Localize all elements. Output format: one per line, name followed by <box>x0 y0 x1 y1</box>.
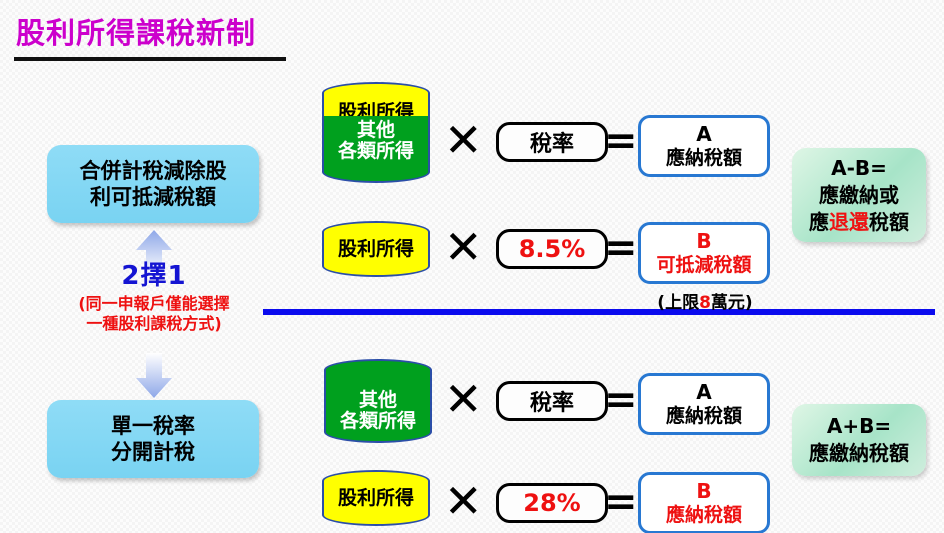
result-box-a-2[interactable]: A 應納稅額 <box>638 373 770 435</box>
cylinder-segment-other: 其他 各類所得 <box>324 370 432 432</box>
choice-a-line2: 利可抵減稅額 <box>90 185 216 209</box>
choice-a-line1: 合併計稅減除股 <box>80 159 227 183</box>
cylinder-other-income: 其他 各類所得 <box>324 359 432 443</box>
pick-note-line2: 一種股利課稅方式) <box>86 314 221 333</box>
choice-box-combined-label: 合併計稅減除股 利可抵減稅額 <box>80 158 227 211</box>
equals-operator-3: = <box>604 380 638 420</box>
cylinder-dividend-plus-other-income: 股利所得 其他 各類所得 <box>322 82 430 183</box>
rate-pill-label: 8.5% <box>519 235 586 263</box>
result-sublabel: 應納稅額 <box>666 405 742 427</box>
choice-box-separate-label: 單一稅率 分開計稅 <box>111 413 195 466</box>
cylinder-dividend-label: 股利所得 <box>324 239 428 260</box>
cylinder-other-line2: 各類所得 <box>326 411 430 432</box>
summary-top-line3-post: 稅額 <box>869 210 909 234</box>
arrow-down-icon <box>134 352 174 400</box>
multiply-operator-3: ✕ <box>444 376 483 422</box>
result-sublabel: 應納稅額 <box>666 147 742 169</box>
pick-one-label: 2擇1 <box>34 262 274 292</box>
cylinder-dividend-label: 股利所得 <box>324 488 428 509</box>
cap-note-post: 萬元) <box>711 293 753 313</box>
multiply-operator-4: ✕ <box>444 478 483 524</box>
summary-bottom-line2: 應繳納稅額 <box>809 440 909 467</box>
choice-b-line2: 分開計稅 <box>111 440 195 464</box>
rate-pill-8point5[interactable]: 8.5% <box>496 229 608 269</box>
cap-note-number: 8 <box>699 293 711 313</box>
result-letter: A <box>696 123 711 147</box>
section-divider <box>263 309 935 315</box>
cylinder-segment-other: 其他 各類所得 <box>322 116 430 172</box>
cylinder-other-line1: 其他 <box>326 390 430 411</box>
equals-operator-1: = <box>604 121 638 161</box>
pick-one-note: (同一申報戶僅能選擇 一種股利課稅方式) <box>34 294 274 334</box>
choice-b-line1: 單一稅率 <box>111 414 195 438</box>
pick-note-line1: (同一申報戶僅能選擇 <box>78 294 229 313</box>
cylinder-dividend-income-2: 股利所得 <box>322 470 430 526</box>
cylinder-other-line2: 各類所得 <box>324 141 428 162</box>
rate-pill-label: 28% <box>523 489 580 517</box>
multiply-operator-1: ✕ <box>444 117 483 163</box>
result-box-b-credit[interactable]: B 可抵減稅額 <box>638 222 770 284</box>
summary-bottom-line1: A+B= <box>827 413 891 440</box>
rate-pill-progressive-2[interactable]: 稅率 <box>496 381 608 421</box>
pick-one-block: 2擇1 (同一申報戶僅能選擇 一種股利課稅方式) <box>34 262 274 334</box>
summary-top-line1: A-B= <box>831 155 887 182</box>
equals-operator-2: = <box>604 228 638 268</box>
result-letter: A <box>696 381 711 405</box>
rate-pill-28[interactable]: 28% <box>496 483 608 523</box>
choice-box-separate-taxation[interactable]: 單一稅率 分開計稅 <box>47 400 259 478</box>
multiply-operator-2: ✕ <box>444 224 483 270</box>
rate-pill-progressive-1[interactable]: 稅率 <box>496 122 608 162</box>
result-letter: B <box>696 480 711 504</box>
result-sublabel: 可抵減稅額 <box>656 254 751 276</box>
page-title: 股利所得課稅新制 <box>16 18 256 50</box>
cylinder-other-line1: 其他 <box>324 120 428 141</box>
summary-top-line3-highlight: 退還 <box>829 210 869 234</box>
summary-top-line3: 應退還稅額 <box>809 209 909 236</box>
cylinder-dividend-income-1: 股利所得 <box>322 221 430 277</box>
cylinder-segment-dividend: 股利所得 <box>322 481 430 515</box>
cylinder-segment-dividend: 股利所得 <box>322 232 430 266</box>
credit-cap-note: (上限8萬元) <box>636 288 774 313</box>
result-sublabel: 應納稅額 <box>666 504 742 526</box>
summary-box-a-minus-b[interactable]: A-B= 應繳納或 應退還稅額 <box>792 148 926 242</box>
title-underline <box>14 57 286 61</box>
result-letter: B <box>696 230 711 254</box>
rate-pill-label: 稅率 <box>530 385 574 417</box>
result-box-a-1[interactable]: A 應納稅額 <box>638 115 770 177</box>
cap-note-pre: (上限 <box>657 293 699 313</box>
result-box-b-payable[interactable]: B 應納稅額 <box>638 472 770 533</box>
summary-top-line3-pre: 應 <box>809 210 829 234</box>
equals-operator-4: = <box>604 482 638 522</box>
rate-pill-label: 稅率 <box>530 126 574 158</box>
summary-box-a-plus-b[interactable]: A+B= 應繳納稅額 <box>792 404 926 476</box>
choice-box-combined-taxation[interactable]: 合併計稅減除股 利可抵減稅額 <box>47 145 259 223</box>
summary-top-line2: 應繳納或 <box>819 182 899 209</box>
